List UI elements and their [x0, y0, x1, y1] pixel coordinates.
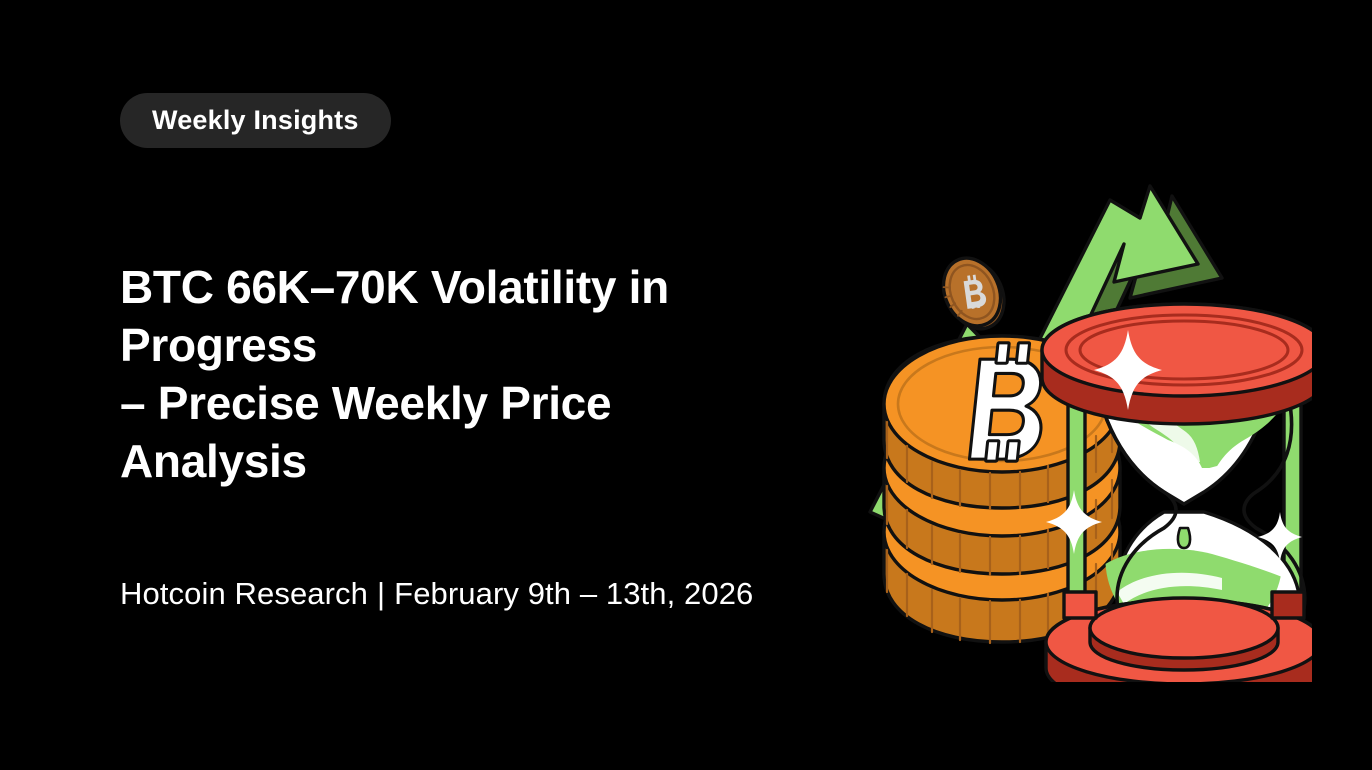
subtitle-date-range: February 9th – 13th, 2026 [394, 576, 753, 611]
headline-line-1: BTC 66K–70K Volatility in [120, 258, 820, 316]
weekly-insights-badge: Weekly Insights [120, 93, 391, 148]
hourglass-icon [1042, 304, 1312, 682]
headline-line-3: – Precise Weekly Price [120, 374, 820, 432]
page-title: BTC 66K–70K Volatility in Progress – Pre… [120, 258, 820, 490]
floating-bitcoin-coin-icon [933, 248, 1014, 338]
text-content-column: Weekly Insights BTC 66K–70K Volatility i… [120, 0, 880, 770]
headline-line-4: Analysis [120, 432, 820, 490]
weekly-insights-banner: Weekly Insights BTC 66K–70K Volatility i… [0, 0, 1372, 770]
hourglass-top-cap [1042, 304, 1312, 424]
hourglass-base [1046, 592, 1312, 682]
subtitle-byline: Hotcoin Research|February 9th – 13th, 20… [120, 576, 753, 612]
illustration [862, 182, 1312, 682]
badge-label: Weekly Insights [152, 105, 359, 136]
subtitle-author: Hotcoin Research [120, 576, 368, 611]
subtitle-separator: | [368, 576, 394, 612]
headline-line-2: Progress [120, 316, 820, 374]
